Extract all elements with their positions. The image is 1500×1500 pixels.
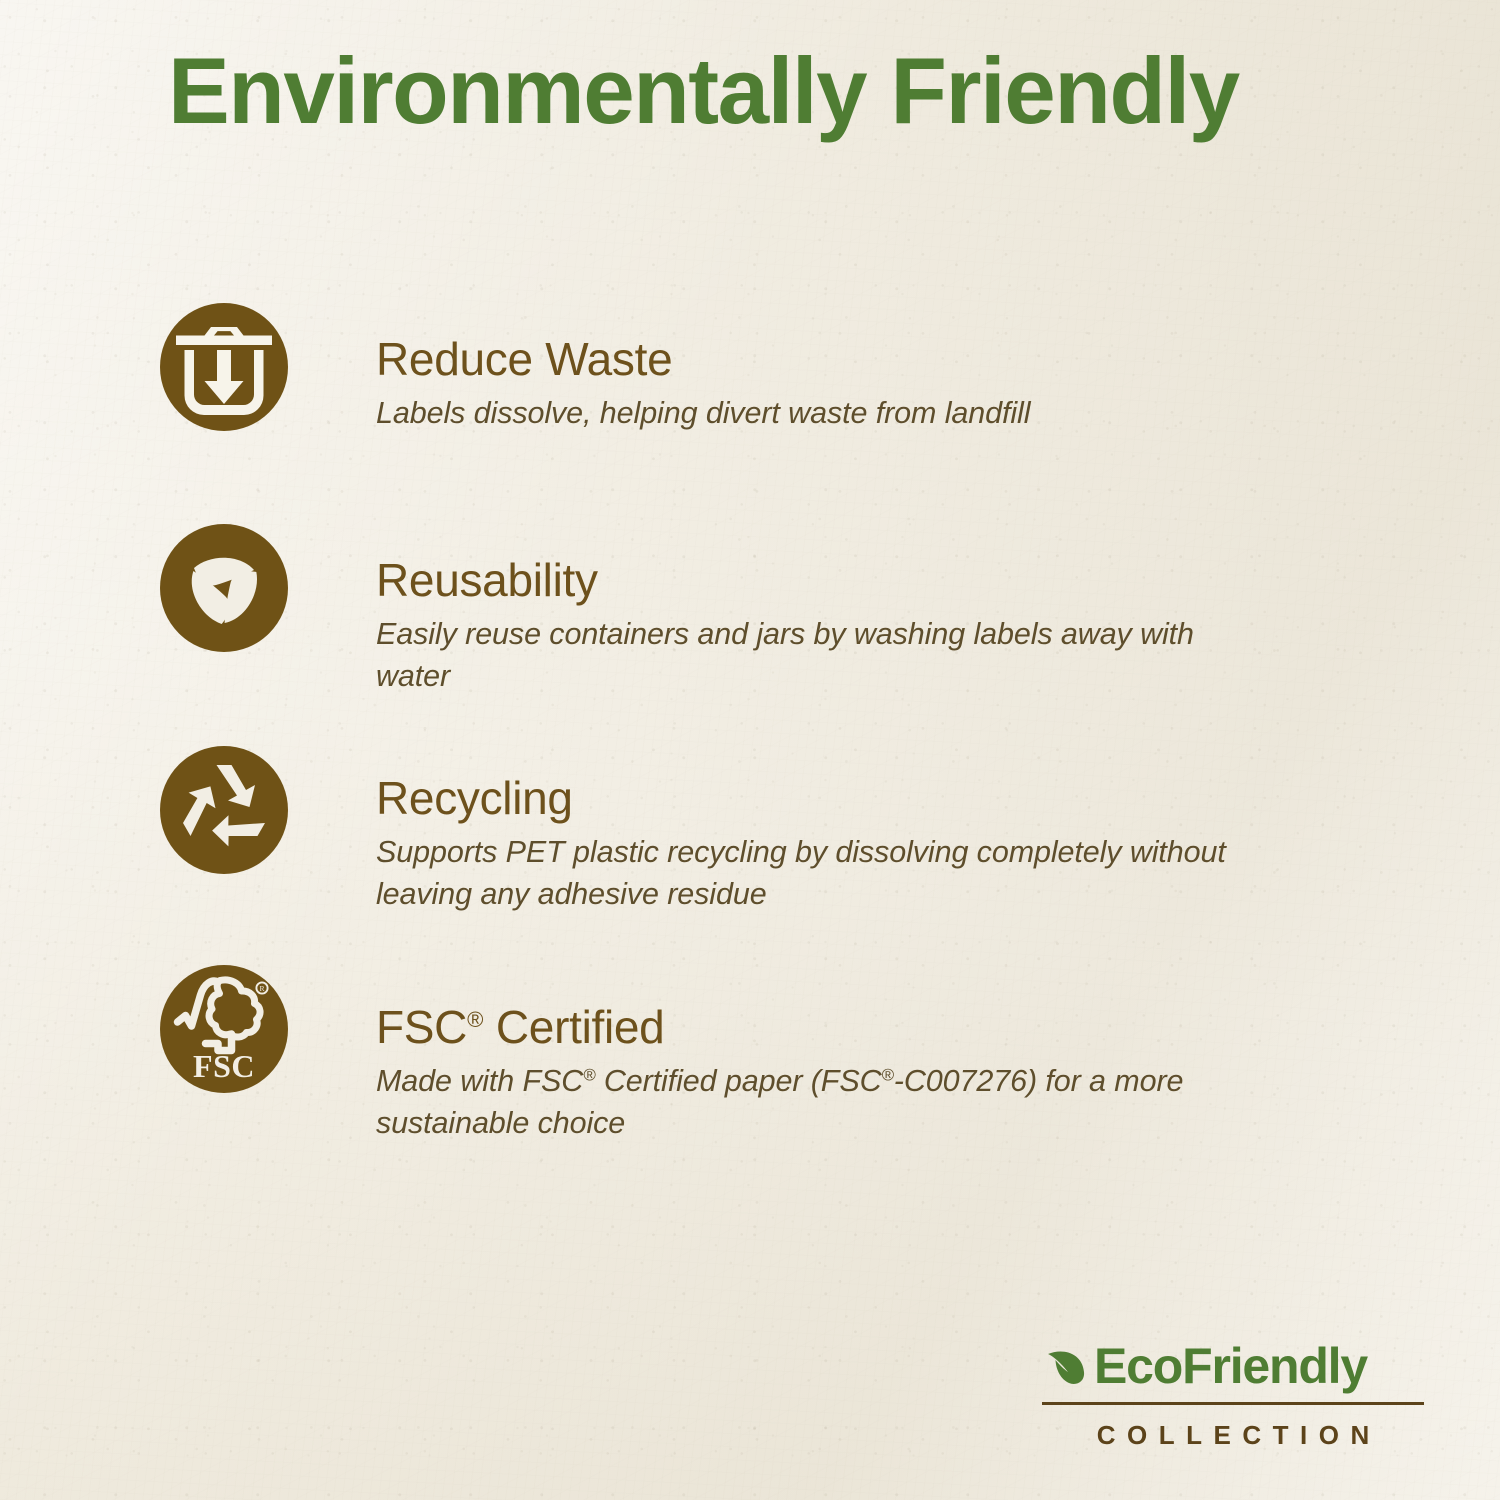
brand-divider xyxy=(1042,1402,1424,1405)
fsc-tree-checkmark-icon: R FSC xyxy=(160,965,288,1093)
brand-subtitle: COLLECTION xyxy=(1042,1422,1424,1448)
feature-description-recycling: Supports PET plastic recycling by dissol… xyxy=(376,831,1276,915)
leaf-recycle-icon xyxy=(160,524,288,652)
brand-lockup: EcoFriendly COLLECTION xyxy=(1042,1338,1424,1448)
page-title: Environmentally Friendly xyxy=(168,44,1340,138)
feature-row-fsc-certified: R FSC FSC® Certified Made with FSC® Cert… xyxy=(160,965,1360,1144)
feature-text-reduce-waste: Reduce Waste Labels dissolve, helping di… xyxy=(376,303,1030,434)
fsc-heading-prefix: FSC xyxy=(376,1001,467,1053)
svg-text:FSC: FSC xyxy=(193,1048,255,1084)
feature-description-reduce-waste: Labels dissolve, helping divert waste fr… xyxy=(376,392,1030,434)
registered-mark-icon: ® xyxy=(882,1066,894,1085)
fsc-desc-part2: Certified paper (FSC xyxy=(595,1064,881,1098)
fsc-desc-part1: Made with FSC xyxy=(376,1064,583,1098)
feature-row-reduce-waste: Reduce Waste Labels dissolve, helping di… xyxy=(160,303,1360,434)
leaf-icon xyxy=(1042,1342,1090,1390)
feature-text-fsc-certified: FSC® Certified Made with FSC® Certified … xyxy=(376,965,1276,1144)
feature-heading-reusability: Reusability xyxy=(376,556,1276,604)
feature-text-recycling: Recycling Supports PET plastic recycling… xyxy=(376,746,1276,915)
infographic-canvas: Environmentally Friendly Reduce Waste La… xyxy=(0,0,1500,1500)
feature-row-reusability: Reusability Easily reuse containers and … xyxy=(160,524,1360,697)
brand-name: EcoFriendly xyxy=(1094,1341,1367,1391)
feature-row-recycling: Recycling Supports PET plastic recycling… xyxy=(160,746,1360,915)
feature-heading-fsc-certified: FSC® Certified xyxy=(376,1003,1276,1051)
feature-description-reusability: Easily reuse containers and jars by wash… xyxy=(376,613,1276,697)
recycling-arrows-icon xyxy=(160,746,288,874)
feature-description-fsc-certified: Made with FSC® Certified paper (FSC®-C00… xyxy=(376,1060,1276,1144)
feature-heading-reduce-waste: Reduce Waste xyxy=(376,335,1030,383)
feature-text-reusability: Reusability Easily reuse containers and … xyxy=(376,524,1276,697)
feature-heading-recycling: Recycling xyxy=(376,774,1276,822)
registered-mark-icon: ® xyxy=(467,1007,483,1032)
registered-mark-icon: ® xyxy=(583,1066,595,1085)
fsc-heading-suffix: Certified xyxy=(483,1001,664,1053)
trash-down-arrow-icon xyxy=(160,303,288,431)
brand-top-row: EcoFriendly xyxy=(1042,1338,1424,1394)
